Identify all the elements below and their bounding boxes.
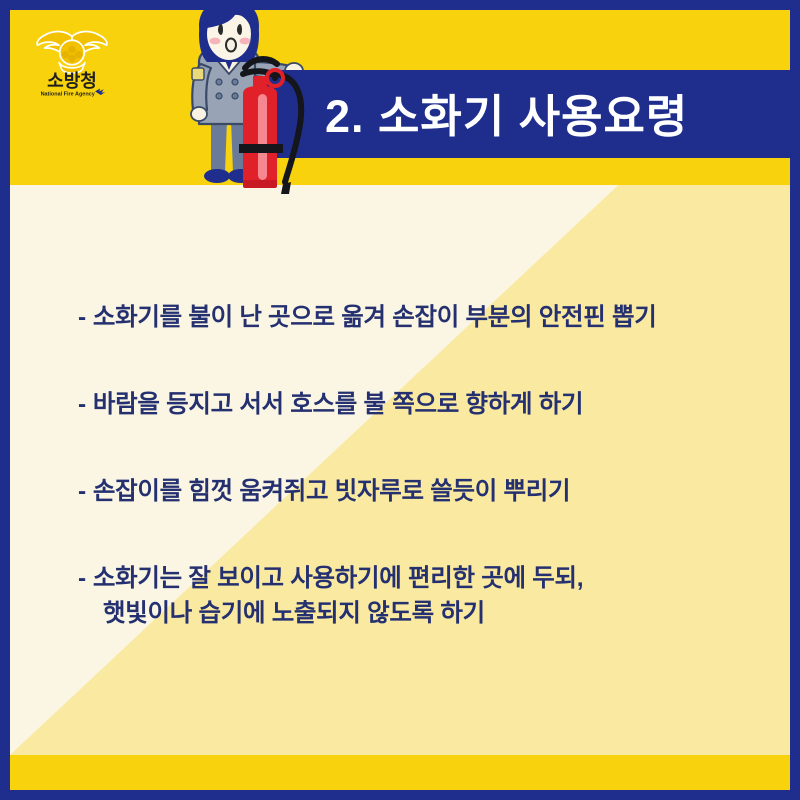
title-banner: 2. 소화기 사용요령 bbox=[265, 70, 790, 158]
page-title: 2. 소화기 사용요령 bbox=[325, 80, 688, 145]
footer-band bbox=[10, 755, 790, 790]
bullet-dash: - bbox=[78, 562, 86, 597]
list-item: -소화기는 잘 보이고 사용하기에 편리한 곳에 두되, 햇빛이나 습기에 노출… bbox=[78, 562, 583, 632]
bullet-dash: - bbox=[78, 388, 86, 423]
list-item: -바람을 등지고 서서 호스를 불 쪽으로 향하게 하기 bbox=[78, 388, 583, 423]
arm-badge bbox=[192, 68, 204, 80]
fire-agency-logo: 소방청 National Fire Agency bbox=[28, 28, 116, 100]
bullet-dash: - bbox=[78, 475, 86, 510]
emblem-wings-icon bbox=[37, 32, 107, 73]
fire-extinguisher-illustration bbox=[225, 48, 320, 198]
bullet-text: 바람을 등지고 서서 호스를 불 쪽으로 향하게 하기 bbox=[93, 391, 583, 418]
bullet-text: 소화기를 불이 난 곳으로 옮겨 손잡이 부분의 안전핀 뽑기 bbox=[93, 304, 657, 331]
bullet-text: 손잡이를 힘껏 움켜쥐고 빗자루로 쓸듯이 뿌리기 bbox=[93, 478, 570, 505]
instruction-list: -소화기를 불이 난 곳으로 옮겨 손잡이 부분의 안전핀 뽑기 -바람을 등지… bbox=[10, 185, 790, 755]
extinguisher-highlight bbox=[258, 94, 267, 180]
poster-root: 소방청 National Fire Agency bbox=[0, 0, 800, 800]
logo-subtitle: National Fire Agency bbox=[41, 92, 96, 98]
bullet-text: 소화기는 잘 보이고 사용하기에 편리한 곳에 두되, bbox=[93, 565, 583, 592]
bullet-text-continued: 햇빛이나 습기에 노출되지 않도록 하기 bbox=[78, 597, 583, 632]
poster-canvas: 소방청 National Fire Agency bbox=[10, 10, 790, 790]
bullet-dash: - bbox=[78, 301, 86, 336]
list-item: -소화기를 불이 난 곳으로 옮겨 손잡이 부분의 안전핀 뽑기 bbox=[78, 301, 656, 336]
logo-name: 소방청 bbox=[47, 71, 97, 91]
list-item: -손잡이를 힘껏 움켜쥐고 빗자루로 쓸듯이 뿌리기 bbox=[78, 475, 570, 510]
